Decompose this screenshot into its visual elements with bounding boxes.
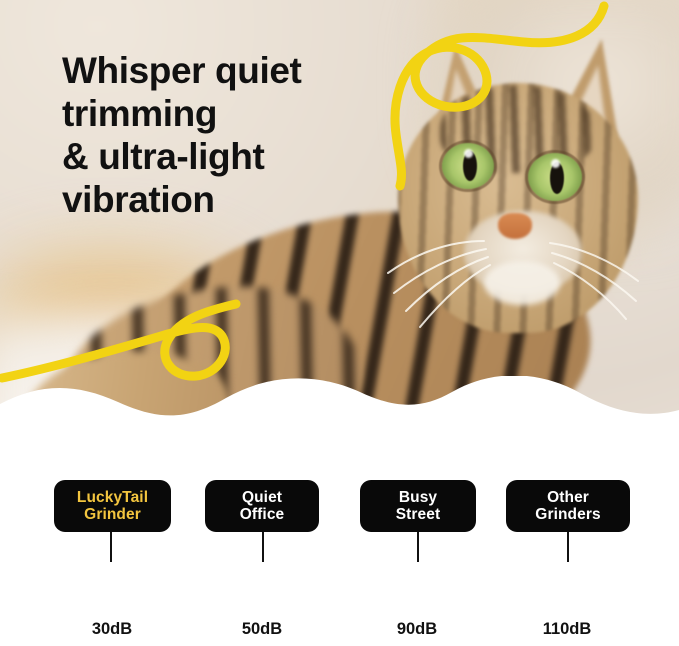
tick-label-90db: 90dB — [375, 620, 459, 639]
headline-line-1: Whisper quiet — [62, 50, 392, 93]
wave-divider — [0, 376, 679, 470]
marker-connector — [128, 591, 260, 593]
headline-line-3: & ultra-light — [62, 136, 392, 179]
chart-label-line-2: Office — [240, 506, 285, 523]
chart-label-quiet-office[interactable]: Quiet Office — [205, 480, 319, 532]
chart-label-line-1: LuckyTail — [77, 489, 148, 506]
connector-line-busy-street — [417, 532, 419, 562]
marker-triangle-filled-icon — [92, 576, 130, 606]
connector-line-quiet-office — [262, 532, 264, 562]
chart-label-line-1: Busy — [399, 489, 437, 506]
connector-line-other-grinders — [567, 532, 569, 562]
hero-photo: Whisper quiet trimming & ultra-light vib… — [0, 0, 679, 470]
tick-label-50db: 50dB — [220, 620, 304, 639]
noise-comparison-chart: LuckyTail Grinder Quiet Office Busy Stre… — [0, 466, 679, 646]
chart-label-other-grinders[interactable]: Other Grinders — [506, 480, 630, 532]
headline-line-2: trimming — [62, 93, 392, 136]
chart-label-line-1: Other — [547, 489, 589, 506]
tick-label-30db: 30dB — [70, 620, 154, 639]
tick-label-110db: 110dB — [521, 620, 613, 639]
chart-label-line-2: Grinder — [84, 506, 141, 523]
page-title: Whisper quiet trimming & ultra-light vib… — [62, 50, 392, 222]
chart-label-luckytail-grinder[interactable]: LuckyTail Grinder — [54, 480, 171, 532]
chart-label-line-2: Grinders — [535, 506, 600, 523]
promo-graphic: Whisper quiet trimming & ultra-light vib… — [0, 0, 679, 646]
marker-triangle-hollow-icon — [242, 574, 284, 608]
headline-line-4: vibration — [62, 179, 392, 222]
chart-label-line-2: Street — [396, 506, 441, 523]
squiggle-top-right — [395, 6, 604, 186]
chart-label-busy-street[interactable]: Busy Street — [360, 480, 476, 532]
connector-line-luckytail — [110, 532, 112, 562]
squiggle-bottom-left — [2, 304, 236, 378]
chart-label-line-1: Quiet — [242, 489, 282, 506]
